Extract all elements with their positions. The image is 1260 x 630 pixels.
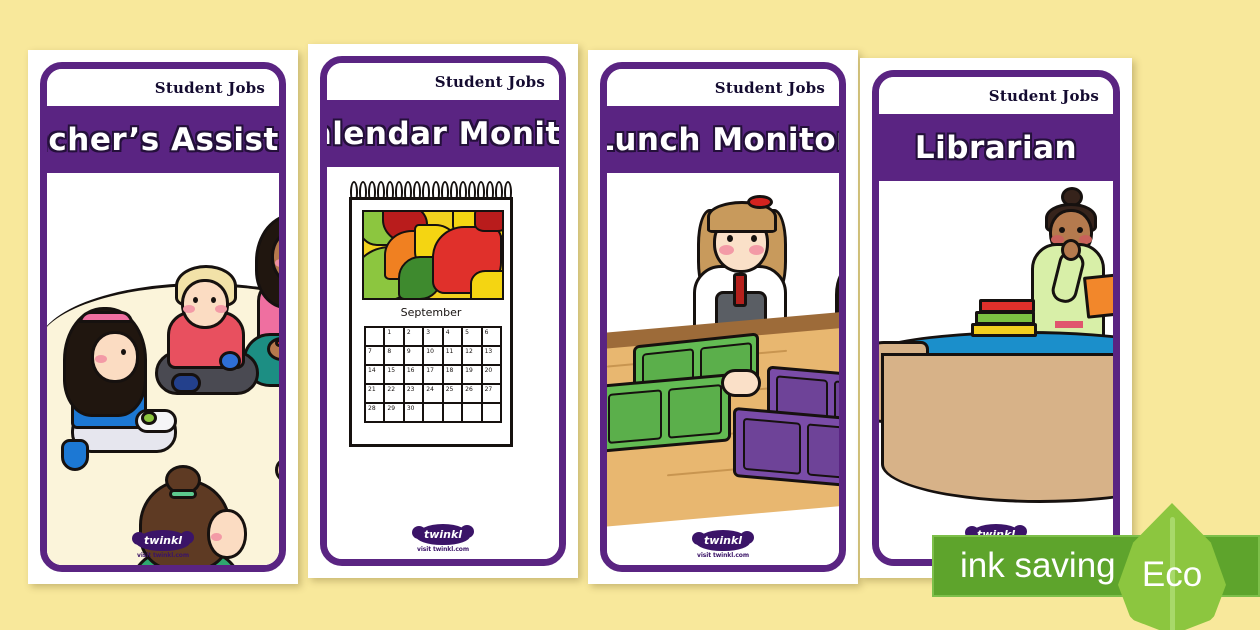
girl-hair-bow [747, 195, 773, 209]
calendar-month-label: September [352, 306, 510, 319]
twinkl-blob-icon: twinkl [696, 530, 750, 551]
calendar-cell-day: 21 [366, 385, 385, 404]
eco-badge-text: ink saving [960, 546, 1116, 586]
card-topbar: Student Jobs [879, 77, 1113, 121]
book-yellow [971, 323, 1037, 337]
twinkl-wordmark: twinkl [144, 534, 182, 547]
calendar-body: September 123456789101112131415161718192… [349, 197, 513, 447]
leaf-icon: Eco [1118, 503, 1226, 630]
twinkl-logo: twinkl visit twinkl.com [132, 530, 194, 559]
calendar-cell-day: 28 [366, 404, 385, 423]
eco-label: Eco [1118, 555, 1226, 595]
calendar-cell-day: 8 [385, 347, 404, 366]
girl-eye-left [727, 235, 733, 242]
book-red [979, 299, 1035, 313]
calendar-cell-day: 25 [444, 385, 463, 404]
calendar-cell-day: 4 [444, 328, 463, 347]
calendar-cell-empty [444, 404, 463, 423]
calendar-cell-day: 1 [385, 328, 404, 347]
calendar-cell-day: 2 [405, 328, 424, 347]
card-kicker: Student Jobs [435, 73, 545, 91]
card-teachers-assistant[interactable]: Student Jobs Teacher’s Assistant [28, 50, 298, 584]
card-topbar: Student Jobs [47, 69, 279, 113]
calendar-cell-empty [424, 404, 443, 423]
calendar-cell-day: 12 [463, 347, 482, 366]
calendar-cell-empty [366, 328, 385, 347]
child-right-purple [275, 413, 279, 565]
calendar-cell-day: 9 [405, 347, 424, 366]
card-librarian[interactable]: Student Jobs Librarian [860, 58, 1132, 578]
twinkl-url: visit twinkl.com [692, 552, 754, 559]
calendar-cell-day: 10 [424, 347, 443, 366]
girl-eye-right [751, 235, 757, 242]
lunch-tray-purple-front [733, 407, 839, 489]
calendar-cell-day: 20 [483, 366, 502, 385]
book-green [975, 311, 1035, 325]
librarian-hand [1061, 239, 1081, 261]
calendar-cell-day: 22 [385, 385, 404, 404]
calendar-cell-day: 16 [405, 366, 424, 385]
card-topbar: Student Jobs [607, 69, 839, 113]
calendar-cell-day: 13 [483, 347, 502, 366]
card-topbar: Student Jobs [327, 63, 559, 107]
girl-necktie [733, 273, 747, 307]
card-kicker: Student Jobs [989, 87, 1099, 105]
librarian-eye-left [1059, 227, 1065, 233]
ink-saving-eco-badge: ink saving Eco [932, 535, 1260, 597]
twinkl-logo: twinkl visit twinkl.com [412, 524, 474, 553]
calendar-cell-day: 15 [385, 366, 404, 385]
twinkl-wordmark: twinkl [424, 528, 462, 541]
card-inner: Student Jobs Librarian [872, 70, 1120, 566]
desk-front-panel [881, 353, 1113, 503]
calendar-cell-day: 26 [463, 385, 482, 404]
twinkl-url: visit twinkl.com [412, 546, 474, 553]
card-title: Librarian [915, 130, 1077, 166]
calendar-cell-day: 19 [463, 366, 482, 385]
card-title: Calendar Monitor [320, 116, 566, 152]
calendar-cell-day: 24 [424, 385, 443, 404]
girl-hand [721, 369, 761, 397]
calendar-cell-day: 5 [463, 328, 482, 347]
calendar-cell-day: 17 [424, 366, 443, 385]
librarian-eye-right [1077, 227, 1083, 233]
card-kicker: Student Jobs [715, 79, 825, 97]
twinkl-blob-icon: twinkl [136, 530, 190, 551]
calendar-cell-empty [483, 404, 502, 423]
card-title-band: Calendar Monitor [327, 107, 559, 167]
poster-preview-canvas: Student Jobs Teacher’s Assistant [0, 0, 1260, 630]
card-inner: Student Jobs Calendar Monitor [320, 56, 566, 566]
card-title: Lunch Monitor [600, 122, 846, 158]
artwork-lunch-trays: twinkl visit twinkl.com [607, 173, 839, 565]
card-title-band: Lunch Monitor [607, 113, 839, 173]
twinkl-url: visit twinkl.com [132, 552, 194, 559]
artwork-children-circle: twinkl visit twinkl.com [47, 173, 279, 565]
card-calendar-monitor[interactable]: Student Jobs Calendar Monitor [308, 44, 578, 578]
calendar-autumn-leaves-photo [362, 210, 504, 300]
calendar-cell-day: 3 [424, 328, 443, 347]
calendar-cell-day: 30 [405, 404, 424, 423]
calendar-cell-day: 18 [444, 366, 463, 385]
card-inner: Student Jobs Teacher’s Assistant [40, 62, 286, 572]
twinkl-wordmark: twinkl [704, 534, 742, 547]
calendar-cell-day: 7 [366, 347, 385, 366]
twinkl-blob-icon: twinkl [416, 524, 470, 545]
card-title-band: Teacher’s Assistant [47, 113, 279, 173]
calendar-cell-day: 29 [385, 404, 404, 423]
artwork-desk-calendar: September 123456789101112131415161718192… [327, 167, 559, 559]
calendar-day-grid: 1234567891011121314151617181920212223242… [364, 326, 502, 423]
calendar-cell-empty [463, 404, 482, 423]
card-title: Teacher’s Assistant [40, 122, 286, 158]
twinkl-logo: twinkl visit twinkl.com [692, 530, 754, 559]
card-lunch-monitor[interactable]: Student Jobs Lunch Monitor [588, 50, 858, 584]
calendar-cell-day: 11 [444, 347, 463, 366]
girl-cheek-right [749, 245, 764, 255]
librarian-collar [1055, 321, 1083, 328]
calendar-cell-day: 14 [366, 366, 385, 385]
librarian-orange-book [1083, 273, 1113, 319]
card-inner: Student Jobs Lunch Monitor [600, 62, 846, 572]
calendar-cell-day: 27 [483, 385, 502, 404]
calendar-cell-day: 6 [483, 328, 502, 347]
lunch-tray-green-front [607, 373, 731, 453]
card-kicker: Student Jobs [155, 79, 265, 97]
girl-cheek-left [719, 245, 734, 255]
calendar-cell-day: 23 [405, 385, 424, 404]
card-title-band: Librarian [879, 121, 1113, 181]
artwork-librarian-desk: twinkl visit twinkl.com [879, 181, 1113, 559]
